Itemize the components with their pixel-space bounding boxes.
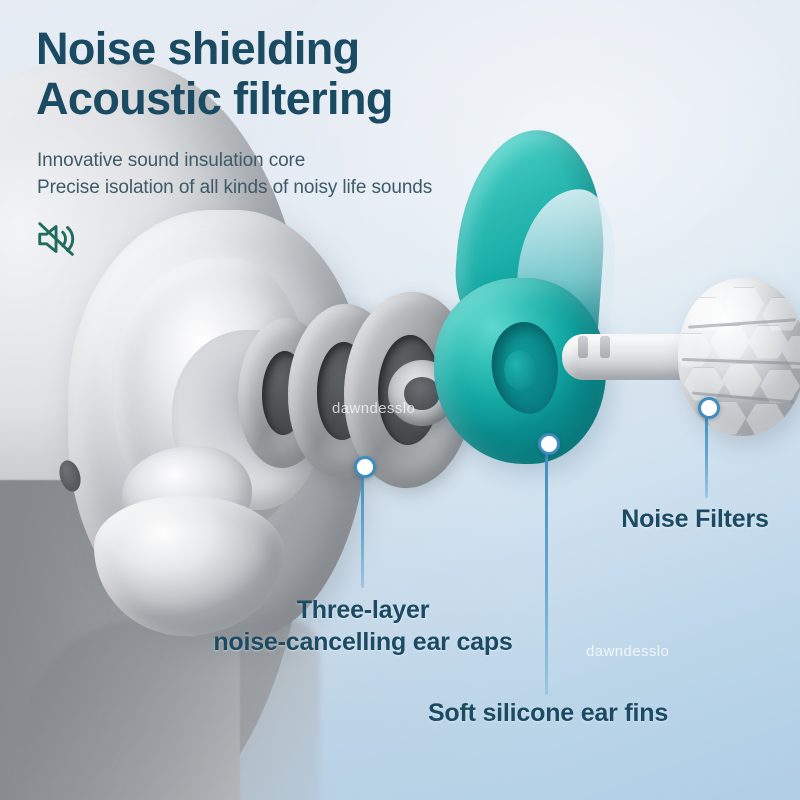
watermark-text: dawndesslo (332, 400, 415, 417)
callout-dot-ear-fins (538, 433, 560, 455)
noise-filter-part (556, 272, 796, 452)
filter-hex-facet (746, 402, 786, 436)
muted-speaker-icon (34, 216, 80, 262)
watermark-text: dawndesslo (586, 643, 669, 660)
noise-filter-stem-notch-2 (600, 336, 610, 358)
subtitle-line-1: Innovative sound insulation core (37, 148, 432, 175)
callout-dot-noise-filters (698, 397, 720, 419)
callout-label-ear-caps-line-2: noise-cancelling ear caps (148, 627, 578, 659)
product-infographic-poster: Noise shielding Acoustic filtering Innov… (0, 0, 800, 800)
noise-filter-stem-notch-1 (578, 336, 588, 358)
callout-label-noise-filters: Noise Filters (595, 504, 795, 536)
callout-label-ear-fins: Soft silicone ear fins (358, 698, 738, 730)
callout-label-ear-caps-line-1: Three-layer (148, 595, 578, 627)
page-subtitle: Innovative sound insulation core Precise… (37, 148, 432, 202)
page-title: Noise shielding Acoustic filtering (36, 24, 393, 125)
filter-hex-facet (724, 286, 764, 322)
callout-line-ear-caps (361, 470, 364, 588)
subtitle-line-2: Precise isolation of all kinds of noisy … (37, 175, 432, 202)
title-line-1: Noise shielding (36, 23, 360, 74)
callout-dot-ear-caps (354, 456, 376, 478)
callout-line-noise-filters (705, 410, 708, 498)
filter-hex-facet (722, 362, 762, 398)
callout-label-ear-caps: Three-layer noise-cancelling ear caps (148, 595, 578, 658)
title-line-2: Acoustic filtering (36, 74, 393, 124)
filter-hex-facet (678, 332, 712, 368)
callout-label-noise-filters-line-1: Noise Filters (595, 504, 795, 536)
callout-label-ear-fins-line-1: Soft silicone ear fins (358, 698, 738, 730)
noise-filter-dome-head (678, 278, 800, 436)
